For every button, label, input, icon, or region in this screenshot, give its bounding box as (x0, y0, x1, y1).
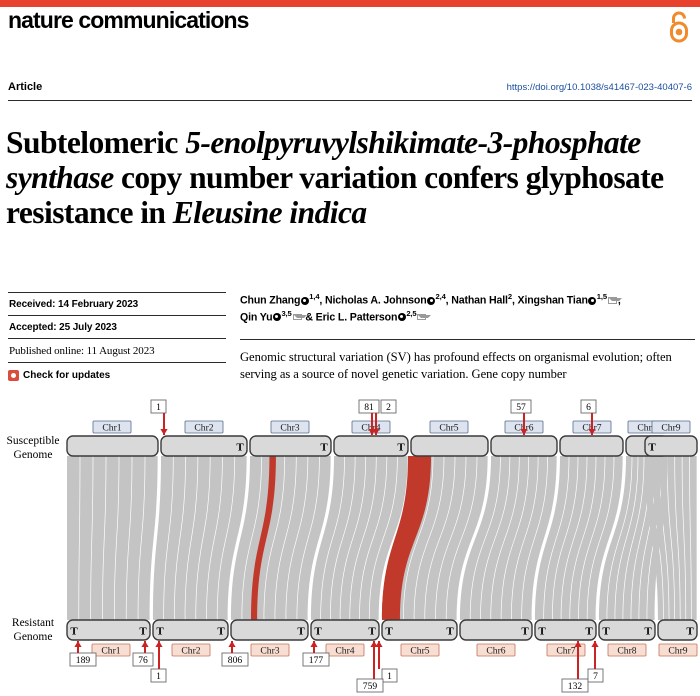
callout-arrowhead (591, 641, 598, 647)
resistant-genome-label: Resistant Genome (0, 616, 66, 644)
author-affiliation: 2,5 (406, 309, 416, 318)
email-icon[interactable] (293, 314, 302, 321)
susceptible-chromosome-row: TTTT (67, 436, 697, 456)
telomere-marker: T (521, 625, 529, 637)
check-for-updates-label: Check for updates (23, 370, 110, 381)
authors-and-abstract: Chun Zhang1,4, Nicholas A. Johnson2,4, N… (240, 292, 695, 383)
author-affiliation: 2,4 (436, 292, 446, 301)
article-type-label: Article (8, 81, 42, 93)
chromosome-bar (491, 436, 557, 456)
callout-value: 76 (138, 655, 148, 666)
telomere-marker: T (217, 625, 225, 637)
chromosome-label: Chr9 (661, 422, 680, 433)
callout-value: 132 (568, 681, 583, 692)
author-sep[interactable]: , Nathan Hall (446, 295, 508, 307)
abstract-divider (240, 339, 695, 340)
check-for-updates-button[interactable]: Check for updates (8, 363, 226, 381)
callout-value: 759 (363, 681, 378, 692)
callout-value: 1 (387, 671, 392, 682)
synteny-ribbon (79, 456, 92, 620)
chromosome-bar (250, 436, 331, 456)
telomere-marker: T (385, 625, 393, 637)
chromosome-label: Chr3 (260, 645, 279, 656)
orcid-icon[interactable] (427, 297, 435, 305)
callout-value: 189 (76, 655, 91, 666)
chromosome-bar (411, 436, 488, 456)
telomere-marker: T (236, 441, 244, 453)
author-name[interactable]: Chun Zhang (240, 295, 300, 307)
susceptible-label-line1: Susceptible (6, 435, 59, 447)
published-date: Published online: 11 August 2023 (8, 339, 226, 362)
callout-value: 1 (156, 402, 161, 413)
chromosome-label: Chr5 (439, 422, 458, 433)
email-icon[interactable] (608, 297, 617, 304)
chromosome-label: Chr1 (102, 422, 121, 433)
synteny-ribbons (67, 456, 697, 620)
callout-value: 177 (309, 655, 324, 666)
telomere-marker: T (368, 625, 376, 637)
orcid-icon[interactable] (398, 313, 406, 321)
telomere-marker: T (70, 625, 78, 637)
resistant-chromosome-labels: Chr1Chr2Chr3Chr4Chr5Chr6Chr7Chr8Chr9 (92, 644, 697, 656)
telomere-marker: T (602, 625, 610, 637)
header-divider (8, 100, 692, 101)
susceptible-chromosome-labels: Chr1Chr2Chr3Chr4Chr5Chr6Chr7Chr8Chr9 (93, 421, 690, 433)
telomere-marker: T (446, 625, 454, 637)
resistant-chromosome-row: TTTTTTTTTTTTTTT (67, 620, 697, 640)
callout-arrowhead (155, 641, 162, 647)
telomere-marker: T (314, 625, 322, 637)
chromosome-label: Chr7 (556, 645, 575, 656)
email-icon[interactable] (417, 314, 426, 321)
chromosome-label: Chr3 (280, 422, 299, 433)
callout-value: 2 (386, 402, 391, 413)
callout-value: 7 (593, 671, 598, 682)
abstract-text: Genomic structural variation (SV) has pr… (240, 349, 695, 382)
telomere-marker: T (648, 441, 656, 453)
susceptible-label-line2: Genome (14, 449, 53, 461)
author-list: Chun Zhang1,4, Nicholas A. Johnson2,4, N… (240, 292, 695, 325)
brand-rule (0, 0, 700, 7)
chromosome-label: Chr9 (668, 645, 687, 656)
orcid-icon[interactable] (301, 297, 309, 305)
chromosome-label: Chr6 (486, 645, 505, 656)
callout-value: 1 (156, 671, 161, 682)
crossmark-icon (8, 370, 19, 381)
telomere-marker: T (686, 625, 694, 637)
callout-arrowhead (310, 641, 317, 647)
resistant-label-line2: Genome (14, 631, 53, 643)
telomere-marker: T (156, 625, 164, 637)
telomere-marker: T (297, 625, 305, 637)
author-affiliation: 1,5 (597, 292, 607, 301)
synteny-plot-svg: TTTT TTTTTTTTTTTTTTT Chr1Chr2Chr3Chr4Chr… (0, 398, 700, 696)
author-sep[interactable]: , Nicholas A. Johnson (319, 295, 426, 307)
article-header-row: Article https://doi.org/10.1038/s41467-0… (8, 81, 692, 97)
chromosome-label: Chr1 (101, 645, 120, 656)
orcid-icon[interactable] (273, 313, 281, 321)
author-affiliation: 3,5 (281, 309, 291, 318)
resistant-label-line1: Resistant (12, 617, 54, 629)
callout-value: 81 (364, 402, 374, 413)
chromosome-bar (67, 436, 158, 456)
article-metadata: Received: 14 February 2023 Accepted: 25 … (8, 292, 226, 381)
received-date: Received: 14 February 2023 (8, 293, 226, 315)
chromosome-bar (560, 436, 623, 456)
synteny-figure: Susceptible Genome Resistant Genome TTTT… (0, 398, 700, 696)
callout-value: 57 (516, 402, 526, 413)
chromosome-label: Chr2 (181, 645, 200, 656)
page-title: Subtelomeric 5-enolpyruvylshikimate-3-ph… (6, 125, 696, 230)
telomere-marker: T (585, 625, 593, 637)
title-italic-2: Eleusine indica (173, 195, 367, 230)
chromosome-label: Chr2 (194, 422, 213, 433)
callout-arrowhead (370, 641, 377, 647)
telomere-marker: T (644, 625, 652, 637)
doi-link[interactable]: https://doi.org/10.1038/s41467-023-40407… (507, 82, 692, 93)
chromosome-bar (161, 436, 247, 456)
chromosome-label: Chr5 (410, 645, 429, 656)
chromosome-label: Chr4 (335, 645, 354, 656)
chromosome-label: Chr8 (617, 645, 636, 656)
open-access-lock-icon (666, 10, 692, 44)
callout-arrowhead (228, 641, 235, 647)
telomere-marker: T (397, 441, 405, 453)
susceptible-genome-label: Susceptible Genome (0, 434, 66, 462)
author-affiliation: 1,4 (309, 292, 319, 301)
callout-value: 6 (586, 402, 591, 413)
accepted-date: Accepted: 25 July 2023 (8, 316, 226, 338)
callout-arrowhead (74, 641, 81, 647)
author-sep[interactable]: , Xingshan Tian (512, 295, 588, 307)
title-part-1: Subtelomeric (6, 125, 185, 160)
author-name[interactable]: Qin Yu (240, 311, 272, 323)
callout-arrowhead (141, 641, 148, 647)
orcid-icon[interactable] (588, 297, 596, 305)
chromosome-bar (67, 620, 150, 640)
callout-arrowhead (160, 429, 167, 435)
author-sep[interactable]: & Eric L. Patterson (305, 311, 397, 323)
synteny-ribbon (67, 456, 80, 620)
telomere-marker: T (538, 625, 546, 637)
telomere-marker: T (139, 625, 147, 637)
callout-value: 806 (228, 655, 243, 666)
telomere-marker: T (320, 441, 328, 453)
journal-masthead: nature communications (8, 8, 249, 33)
